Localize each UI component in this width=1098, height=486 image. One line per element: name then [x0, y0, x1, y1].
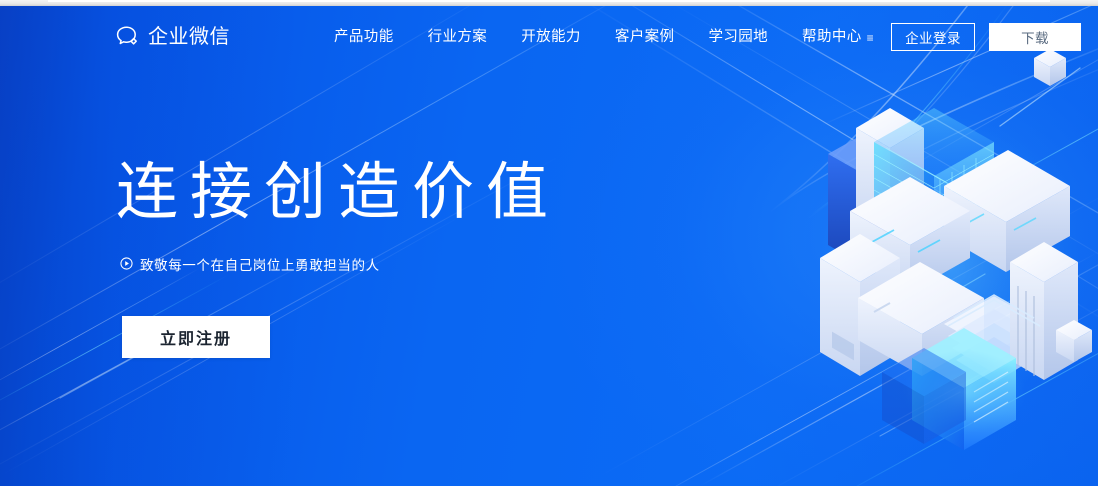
hero-subtitle[interactable]: 致敬每一个在自己岗位上勇敢担当的人 — [120, 254, 560, 274]
register-now-button[interactable]: 立即注册 — [122, 316, 270, 358]
art-bars-right — [1010, 242, 1078, 380]
nav-item-label: 开放能力 — [521, 30, 581, 45]
nav-item-label: 帮助中心 — [802, 30, 862, 45]
brand-logo[interactable]: 企业微信 — [116, 25, 230, 49]
hero-subtitle-text: 致敬每一个在自己岗位上勇敢担当的人 — [140, 254, 380, 274]
nav-item-label: 客户案例 — [615, 30, 675, 45]
nav-menu: 产品功能 行业方案 开放能力 客户案例 学习园地 帮助中心 ≡ — [317, 30, 891, 45]
nav-item-label: 行业方案 — [428, 30, 488, 45]
nav-item-customer-cases[interactable]: 客户案例 — [598, 30, 692, 45]
brand-name: 企业微信 — [148, 27, 230, 47]
art-cube-wireframe-cyan — [874, 108, 994, 241]
page-title: 连接创造价值 — [116, 160, 560, 226]
art-cyan-ring-glow — [855, 270, 965, 326]
art-platform-white-bottom — [858, 262, 984, 376]
hero-right-glow — [538, 6, 1098, 486]
art-cube-shadow-bottomleft — [882, 348, 966, 444]
speech-bubble-icon — [116, 25, 142, 49]
hamburger-menu-icon: ≡ — [867, 32, 874, 44]
nav-actions: 企业登录 下载 — [891, 23, 1081, 51]
nav-item-open-capability[interactable]: 开放能力 — [504, 30, 598, 45]
enterprise-login-button[interactable]: 企业登录 — [891, 23, 975, 51]
art-box-white-center-right — [944, 150, 1070, 272]
art-chevron-highlight — [948, 295, 1040, 326]
nav-item-label: 产品功能 — [334, 30, 394, 45]
play-circle-icon — [120, 257, 133, 270]
nav-item-learning-center[interactable]: 学习园地 — [691, 30, 785, 45]
nav-item-help-center[interactable]: 帮助中心 ≡ — [785, 30, 891, 45]
isometric-3d-cubes-illustration — [798, 36, 1098, 486]
art-box-white-center-left — [850, 177, 970, 292]
art-block-white-lower-left — [820, 234, 900, 376]
art-stacked-sheets — [944, 296, 1044, 383]
nav-item-products[interactable]: 产品功能 — [317, 30, 411, 45]
page-root: 企业微信 产品功能 行业方案 开放能力 客户案例 学习园地 — [0, 0, 1098, 486]
download-button[interactable]: 下载 — [989, 23, 1081, 51]
hero-copy: 连接创造价值 致敬每一个在自己岗位上勇敢担当的人 立即注册 — [116, 160, 560, 358]
art-cube-glowing-cyan-bottom — [902, 328, 1026, 450]
art-slab-blue-left — [828, 136, 890, 262]
nav-item-industry-solutions[interactable]: 行业方案 — [411, 30, 505, 45]
art-cube-small-bottomright — [1056, 320, 1092, 362]
hero-banner: 企业微信 产品功能 行业方案 开放能力 客户案例 学习园地 — [0, 6, 1098, 486]
art-block-white-backleft — [856, 108, 924, 232]
main-navigation: 企业微信 产品功能 行业方案 开放能力 客户案例 学习园地 — [0, 6, 1098, 68]
browser-chrome-strip — [0, 0, 1098, 6]
nav-item-label: 学习园地 — [708, 30, 768, 45]
